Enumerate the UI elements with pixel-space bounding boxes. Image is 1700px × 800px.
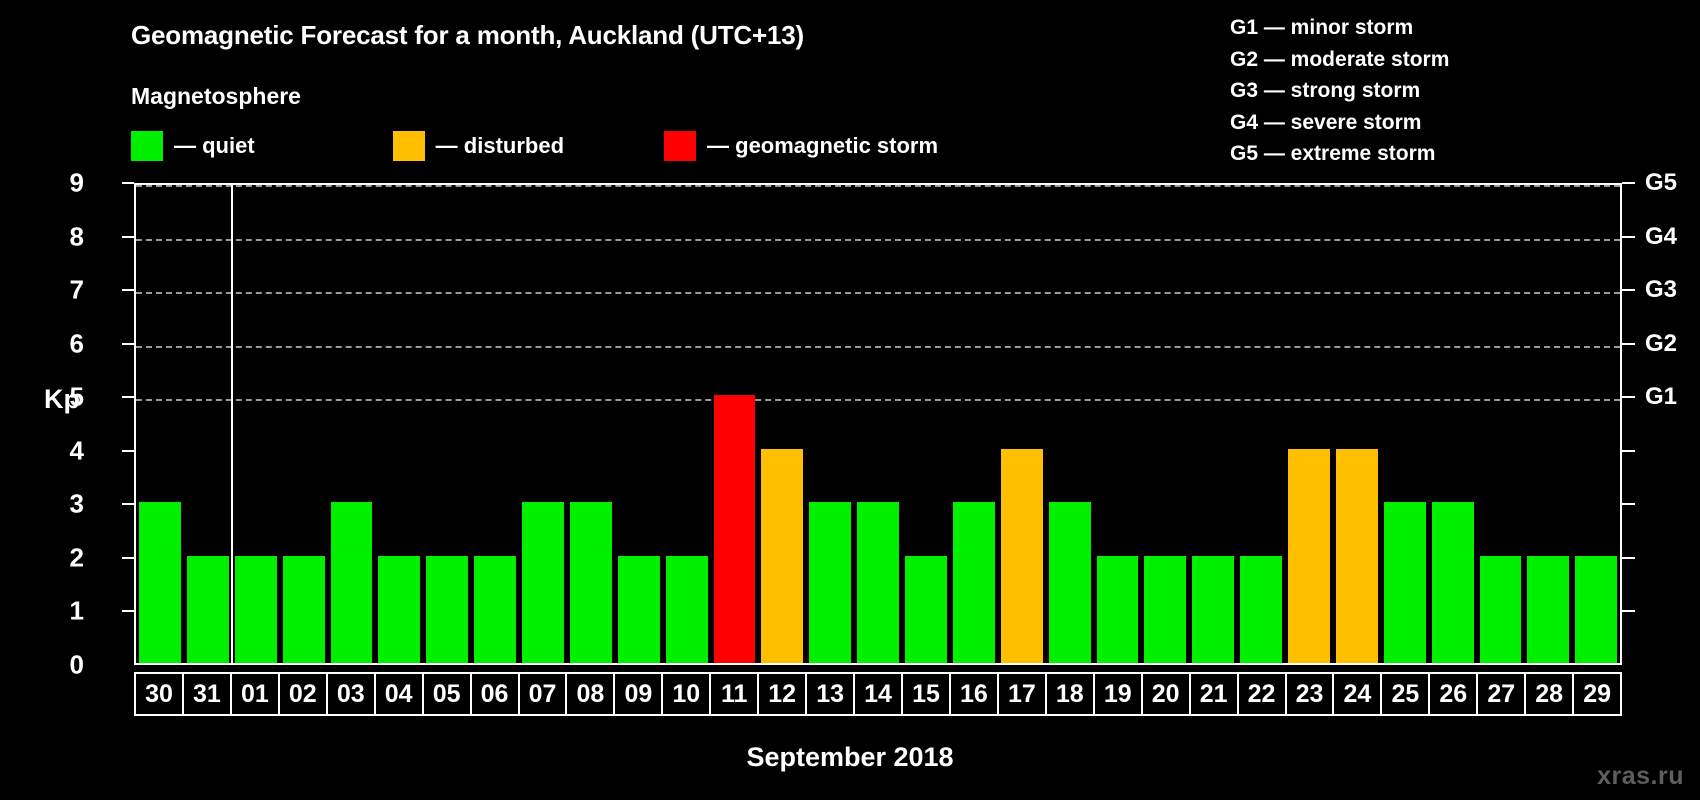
date-cell-24[interactable]: 24 [1332, 672, 1382, 716]
y-tick-mark-1 [122, 610, 134, 612]
legend-swatch-storm [664, 131, 696, 161]
date-cell-08[interactable]: 08 [565, 672, 615, 716]
bar-13[interactable] [809, 502, 851, 663]
bar-04[interactable] [378, 556, 420, 663]
bar-23[interactable] [1288, 449, 1330, 663]
bar-06[interactable] [474, 556, 516, 663]
g-axis-minor-tick-kp-4 [1622, 450, 1635, 452]
bar-05[interactable] [426, 556, 468, 663]
date-cell-06[interactable]: 06 [470, 672, 520, 716]
g-tick-label-G5: G5 [1645, 169, 1677, 197]
legend-item-disturbed: — disturbed [393, 131, 564, 161]
date-label: 28 [1535, 682, 1563, 707]
date-cell-16[interactable]: 16 [949, 672, 999, 716]
date-cell-01[interactable]: 01 [230, 672, 280, 716]
bar-03[interactable] [331, 502, 373, 663]
g-tick-label-G3: G3 [1645, 276, 1677, 304]
g-scale-line-2: G2 — moderate storm [1230, 44, 1449, 76]
bar-cell [1141, 185, 1189, 663]
date-label: 11 [721, 682, 747, 707]
y-tick-mark-3 [122, 503, 134, 505]
g-scale-legend: G1 — minor stormG2 — moderate stormG3 — … [1230, 12, 1449, 170]
date-cell-10[interactable]: 10 [661, 672, 711, 716]
bar-cell [1381, 185, 1429, 663]
g-scale-line-1: G1 — minor storm [1230, 12, 1449, 44]
bar-16[interactable] [953, 502, 995, 663]
bar-cell [423, 185, 471, 663]
bar-cell [184, 185, 232, 663]
date-cell-15[interactable]: 15 [901, 672, 951, 716]
bar-10[interactable] [666, 556, 708, 663]
magnetosphere-label: Magnetosphere [131, 83, 301, 110]
magnetosphere-legend: — quiet— disturbed— geomagnetic storm [131, 131, 938, 161]
date-label: 21 [1200, 682, 1228, 707]
date-cell-07[interactable]: 07 [518, 672, 568, 716]
bar-31[interactable] [187, 556, 229, 663]
bar-cell [232, 185, 280, 663]
bar-cell [1189, 185, 1237, 663]
date-label: 10 [672, 682, 700, 707]
date-cell-27[interactable]: 27 [1476, 672, 1526, 716]
date-label: 23 [1296, 682, 1324, 707]
y-tick-mark-8 [122, 236, 134, 238]
date-cell-22[interactable]: 22 [1237, 672, 1287, 716]
date-cell-31[interactable]: 31 [182, 672, 232, 716]
bar-30[interactable] [139, 502, 181, 663]
bar-cell [758, 185, 806, 663]
bar-cell [1572, 185, 1620, 663]
bar-cell [615, 185, 663, 663]
bar-cell [1094, 185, 1142, 663]
bar-cell [1429, 185, 1477, 663]
watermark: xras.ru [1597, 762, 1684, 791]
date-label: 18 [1056, 682, 1084, 707]
y-tick-mark-6 [122, 343, 134, 345]
bar-22[interactable] [1240, 556, 1282, 663]
y-tick-label-7: 7 [44, 275, 84, 306]
month-divider [231, 185, 233, 663]
legend-swatch-disturbed [393, 131, 425, 161]
bar-cell [854, 185, 902, 663]
date-cell-18[interactable]: 18 [1045, 672, 1095, 716]
page-title: Geomagnetic Forecast for a month, Auckla… [131, 20, 804, 51]
date-label: 09 [624, 682, 652, 707]
date-label: 24 [1344, 682, 1372, 707]
g-scale-line-3: G3 — strong storm [1230, 75, 1449, 107]
g-scale-line-4: G4 — severe storm [1230, 107, 1449, 139]
date-label: 08 [577, 682, 605, 707]
legend-label-disturbed: — disturbed [436, 133, 564, 159]
bar-cell [663, 185, 711, 663]
y-tick-mark-4 [122, 450, 134, 452]
date-label: 17 [1008, 682, 1036, 707]
g-tick-label-G4: G4 [1645, 223, 1677, 251]
date-cell-17[interactable]: 17 [997, 672, 1047, 716]
bar-cell [1285, 185, 1333, 663]
date-label: 06 [481, 682, 509, 707]
date-label: 07 [529, 682, 557, 707]
bar-01[interactable] [235, 556, 277, 663]
date-label: 12 [768, 682, 796, 707]
date-label: 02 [289, 682, 317, 707]
g-scale-line-5: G5 — extreme storm [1230, 138, 1449, 170]
legend-swatch-quiet [131, 131, 163, 161]
bar-cell [1046, 185, 1094, 663]
g-tick-mark-G4 [1622, 236, 1635, 238]
bar-07[interactable] [522, 502, 564, 663]
date-cell-29[interactable]: 29 [1572, 672, 1622, 716]
y-tick-label-9: 9 [44, 168, 84, 199]
y-tick-mark-7 [122, 289, 134, 291]
geomagnetic-forecast-chart: Geomagnetic Forecast for a month, Auckla… [0, 0, 1700, 800]
legend-label-quiet: — quiet [174, 133, 255, 159]
bar-14[interactable] [857, 502, 899, 663]
bar-25[interactable] [1384, 502, 1426, 663]
date-axis: 3031010203040506070809101112131415161718… [134, 672, 1622, 716]
date-cell-14[interactable]: 14 [853, 672, 903, 716]
g-axis-minor-tick-kp-1 [1622, 610, 1635, 612]
date-cell-03[interactable]: 03 [326, 672, 376, 716]
bar-cell [471, 185, 519, 663]
g-tick-label-G2: G2 [1645, 330, 1677, 358]
g-tick-mark-G5 [1622, 182, 1635, 184]
date-cell-09[interactable]: 09 [613, 672, 663, 716]
y-tick-label-0: 0 [44, 650, 84, 681]
bar-cell [567, 185, 615, 663]
date-cell-02[interactable]: 02 [278, 672, 328, 716]
date-cell-30[interactable]: 30 [134, 672, 184, 716]
date-cell-04[interactable]: 04 [374, 672, 424, 716]
g-tick-mark-G2 [1622, 343, 1635, 345]
bar-27[interactable] [1480, 556, 1522, 663]
date-cell-19[interactable]: 19 [1093, 672, 1143, 716]
date-label: 19 [1104, 682, 1132, 707]
bar-09[interactable] [618, 556, 660, 663]
y-tick-mark-5 [122, 396, 134, 398]
g-axis-minor-tick-kp-2 [1622, 557, 1635, 559]
y-tick-label-5: 5 [44, 382, 84, 413]
date-cell-21[interactable]: 21 [1189, 672, 1239, 716]
date-cell-28[interactable]: 28 [1524, 672, 1574, 716]
date-label: 04 [385, 682, 413, 707]
date-label: 03 [337, 682, 365, 707]
y-tick-label-6: 6 [44, 328, 84, 359]
bar-cell [998, 185, 1046, 663]
bar-cell [806, 185, 854, 663]
bar-20[interactable] [1144, 556, 1186, 663]
bar-24[interactable] [1336, 449, 1378, 663]
bar-17[interactable] [1001, 449, 1043, 663]
bar-29[interactable] [1575, 556, 1617, 663]
bar-cell [902, 185, 950, 663]
bar-series [136, 185, 1620, 663]
bar-08[interactable] [570, 502, 612, 663]
bar-18[interactable] [1049, 502, 1091, 663]
date-cell-20[interactable]: 20 [1141, 672, 1191, 716]
date-cell-26[interactable]: 26 [1428, 672, 1478, 716]
g-axis-minor-tick-kp-3 [1622, 503, 1635, 505]
bar-21[interactable] [1192, 556, 1234, 663]
bar-cell [328, 185, 376, 663]
bar-cell [280, 185, 328, 663]
bar-cell [375, 185, 423, 663]
date-label: 15 [912, 682, 940, 707]
legend-item-quiet: — quiet [131, 131, 255, 161]
date-label: 25 [1391, 682, 1419, 707]
bar-15[interactable] [905, 556, 947, 663]
g-tick-mark-G1 [1622, 396, 1635, 398]
legend-label-storm: — geomagnetic storm [707, 133, 938, 159]
date-cell-11[interactable]: 11 [709, 672, 759, 716]
date-cell-05[interactable]: 05 [422, 672, 472, 716]
y-tick-label-2: 2 [44, 542, 84, 573]
y-tick-mark-2 [122, 557, 134, 559]
date-label: 30 [145, 682, 173, 707]
date-cell-25[interactable]: 25 [1380, 672, 1430, 716]
bar-cell [711, 185, 759, 663]
date-cell-13[interactable]: 13 [805, 672, 855, 716]
date-label: 14 [864, 682, 892, 707]
bar-cell [136, 185, 184, 663]
bar-cell [1237, 185, 1285, 663]
bar-cell [1524, 185, 1572, 663]
bar-12[interactable] [761, 449, 803, 663]
date-label: 05 [433, 682, 461, 707]
bar-28[interactable] [1527, 556, 1569, 663]
legend-item-storm: — geomagnetic storm [664, 131, 938, 161]
bar-26[interactable] [1432, 502, 1474, 663]
date-label: 31 [193, 682, 221, 707]
x-axis-title: September 2018 [0, 742, 1700, 773]
bar-cell [1477, 185, 1525, 663]
date-label: 26 [1439, 682, 1467, 707]
y-tick-label-1: 1 [44, 596, 84, 627]
bar-cell [950, 185, 998, 663]
date-label: 01 [241, 682, 269, 707]
y-tick-label-4: 4 [44, 435, 84, 466]
bar-02[interactable] [283, 556, 325, 663]
g-tick-mark-G3 [1622, 289, 1635, 291]
date-cell-12[interactable]: 12 [757, 672, 807, 716]
y-tick-mark-9 [122, 182, 134, 184]
bar-cell [1333, 185, 1381, 663]
bar-11[interactable] [714, 395, 756, 663]
bar-19[interactable] [1097, 556, 1139, 663]
date-label: 29 [1583, 682, 1611, 707]
date-cell-23[interactable]: 23 [1285, 672, 1335, 716]
g-tick-label-G1: G1 [1645, 383, 1677, 411]
y-tick-label-8: 8 [44, 221, 84, 252]
bar-cell [519, 185, 567, 663]
plot-area [134, 183, 1622, 665]
date-label: 13 [816, 682, 844, 707]
date-label: 16 [960, 682, 988, 707]
date-label: 22 [1248, 682, 1276, 707]
y-tick-label-3: 3 [44, 489, 84, 520]
date-label: 27 [1487, 682, 1515, 707]
date-label: 20 [1152, 682, 1180, 707]
